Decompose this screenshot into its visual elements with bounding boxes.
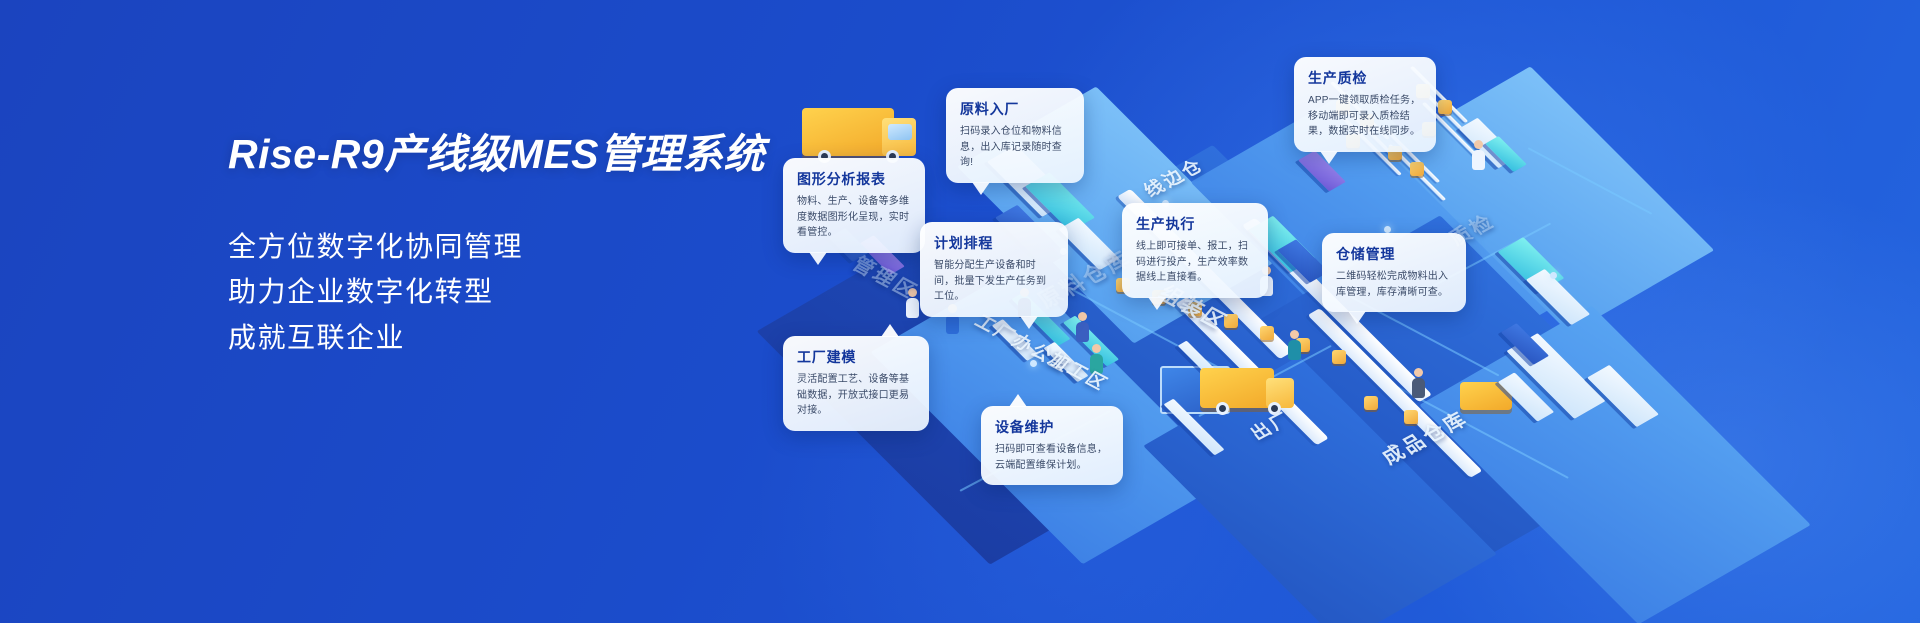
callout-production-execution[interactable]: 生产执行 线上即可接单、报工，扫码进行投产，生产效率数据线上直接看。 [1122,203,1268,298]
conveyor-crate-7 [1332,350,1346,364]
callout-desc-quality-inspection: APP一键领取质检任务，移动端即可录入质检结果，数据实时在线同步。 [1308,93,1422,140]
mes-hero-banner: Rise-R9产线级MES管理系统 全方位数字化协同管理 助力企业数字化转型 成… [0,0,1920,623]
callout-title-factory-modeling: 工厂建模 [797,347,915,367]
worker-office-3 [1076,312,1089,342]
worker-processing [1090,344,1103,374]
callout-title-graphic-report: 图形分析报表 [797,169,911,189]
worker-inspector [1472,140,1485,170]
rack-crate-8 [1410,162,1424,176]
conveyor-crate-11 [1404,410,1418,424]
leader-dot-execution [1384,226,1391,233]
rack-crate-5 [1438,100,1452,114]
callout-desc-graphic-report: 物料、生产、设备等多维度数据图形化呈现，实时看管控。 [797,194,911,241]
delivery-van-body [802,108,894,156]
callout-title-production-execution: 生产执行 [1136,214,1254,234]
callout-desc-plan-scheduling: 智能分配生产设备和时间，批量下发生产任务到工位。 [934,258,1054,305]
leader-dot-warehouse [1550,272,1557,279]
conveyor-crate-4 [1224,314,1238,328]
callout-desc-equipment-maintenance: 扫码即可查看设备信息，云端配置维保计划。 [995,442,1109,473]
callout-title-plan-scheduling: 计划排程 [934,233,1054,253]
callout-title-quality-inspection: 生产质检 [1308,68,1422,88]
conveyor-crate-5 [1260,326,1274,340]
worker-warehouse [1412,368,1425,398]
leader-dot-modeling [1030,360,1037,367]
callout-equipment-maintenance[interactable]: 设备维护 扫码即可查看设备信息，云端配置维保计划。 [981,406,1123,485]
callout-plan-scheduling[interactable]: 计划排程 智能分配生产设备和时间，批量下发生产任务到工位。 [920,222,1068,317]
callout-desc-factory-modeling: 灵活配置工艺、设备等基础数据，开放式接口更易对接。 [797,372,915,419]
callout-title-warehouse-management: 仓储管理 [1336,244,1452,264]
callout-warehouse-management[interactable]: 仓储管理 二维码轻松完成物料出入库管理，库存清晰可查。 [1322,233,1466,312]
callout-title-raw-material-inbound: 原料入厂 [960,99,1070,119]
callout-quality-inspection[interactable]: 生产质检 APP一键领取质检任务，移动端即可录入质检结果，数据实时在线同步。 [1294,57,1436,152]
delivery-van-window [888,124,912,140]
worker-assembly [1288,330,1301,360]
callout-graphic-report[interactable]: 图形分析报表 物料、生产、设备等多维度数据图形化呈现，实时看管控。 [783,158,925,253]
worker-management [906,288,919,318]
outbound-truck-wheel-front [1268,402,1281,415]
callout-factory-modeling[interactable]: 工厂建模 灵活配置工艺、设备等基础数据，开放式接口更易对接。 [783,336,929,431]
callout-desc-raw-material-inbound: 扫码录入仓位和物料信息，出入库记录随时查询! [960,124,1070,171]
outbound-truck-body [1200,368,1274,408]
page-title-rest: 产线级MES管理系统 [384,131,765,177]
brand-name: Rise-R9 [228,131,384,177]
callout-title-equipment-maintenance: 设备维护 [995,417,1109,437]
conveyor-crate-10 [1364,396,1378,410]
outbound-truck-wheel-rear [1216,402,1229,415]
conveyor-crate-3 [1188,302,1202,316]
callout-raw-material-inbound[interactable]: 原料入厂 扫码录入仓位和物料信息，出入库记录随时查询! [946,88,1084,183]
callout-desc-warehouse-management: 二维码轻松完成物料出入库管理，库存清晰可查。 [1336,269,1452,300]
callout-desc-production-execution: 线上即可接单、报工，扫码进行投产，生产效率数据线上直接看。 [1136,239,1254,286]
